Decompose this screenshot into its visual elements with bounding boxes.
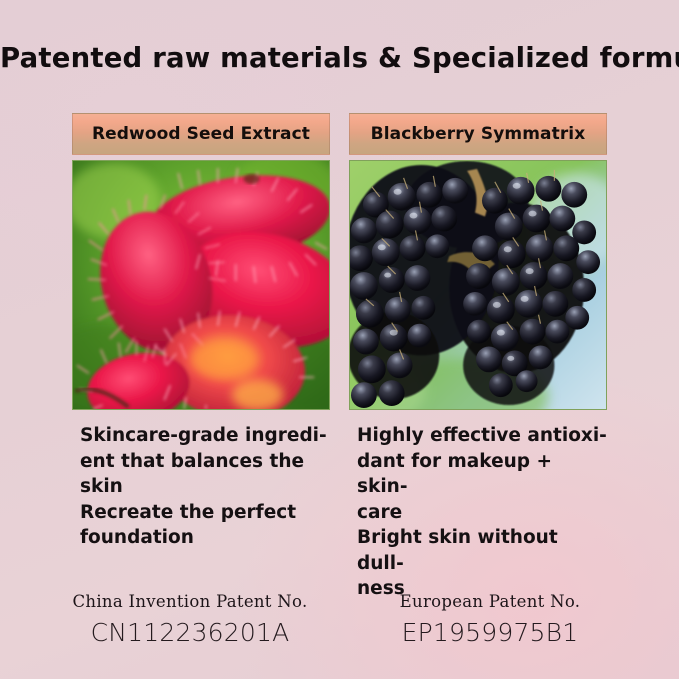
blackberry-cluster-photo [349, 160, 607, 410]
ingredient-columns: Redwood Seed Extract [72, 113, 608, 602]
redwood-seed-pod-illustration [73, 161, 329, 409]
card-description-blackberry-symmatrix: Highly effective antioxi- dant for makeu… [349, 423, 607, 602]
ingredient-card-redwood-seed-extract: Redwood Seed Extract [72, 113, 330, 602]
ingredient-card-blackberry-symmatrix: Blackberry Symmatrix [349, 113, 607, 602]
patent-number: CN112236201A [40, 618, 340, 647]
poster-root: Patented raw materials & Specialized for… [0, 0, 679, 679]
redwood-seed-pod-photo [72, 160, 330, 410]
blackberry-cluster-illustration [350, 161, 606, 409]
patent-label: European Patent No. [340, 592, 640, 611]
patent-number: EP1959975B1 [340, 618, 640, 647]
card-header-label: Blackberry Symmatrix [371, 124, 586, 144]
card-description-redwood-seed-extract: Skincare-grade ingredi- ent that balance… [72, 423, 330, 551]
patent-row: China Invention Patent No. CN112236201A … [40, 592, 640, 647]
patent-china: China Invention Patent No. CN112236201A [40, 592, 340, 647]
patent-europe: European Patent No. EP1959975B1 [340, 592, 640, 647]
card-header-blackberry-symmatrix: Blackberry Symmatrix [349, 113, 607, 155]
page-title: Patented raw materials & Specialized for… [0, 42, 679, 74]
card-header-redwood-seed-extract: Redwood Seed Extract [72, 113, 330, 155]
patent-label: China Invention Patent No. [40, 592, 340, 611]
card-header-label: Redwood Seed Extract [92, 124, 310, 144]
